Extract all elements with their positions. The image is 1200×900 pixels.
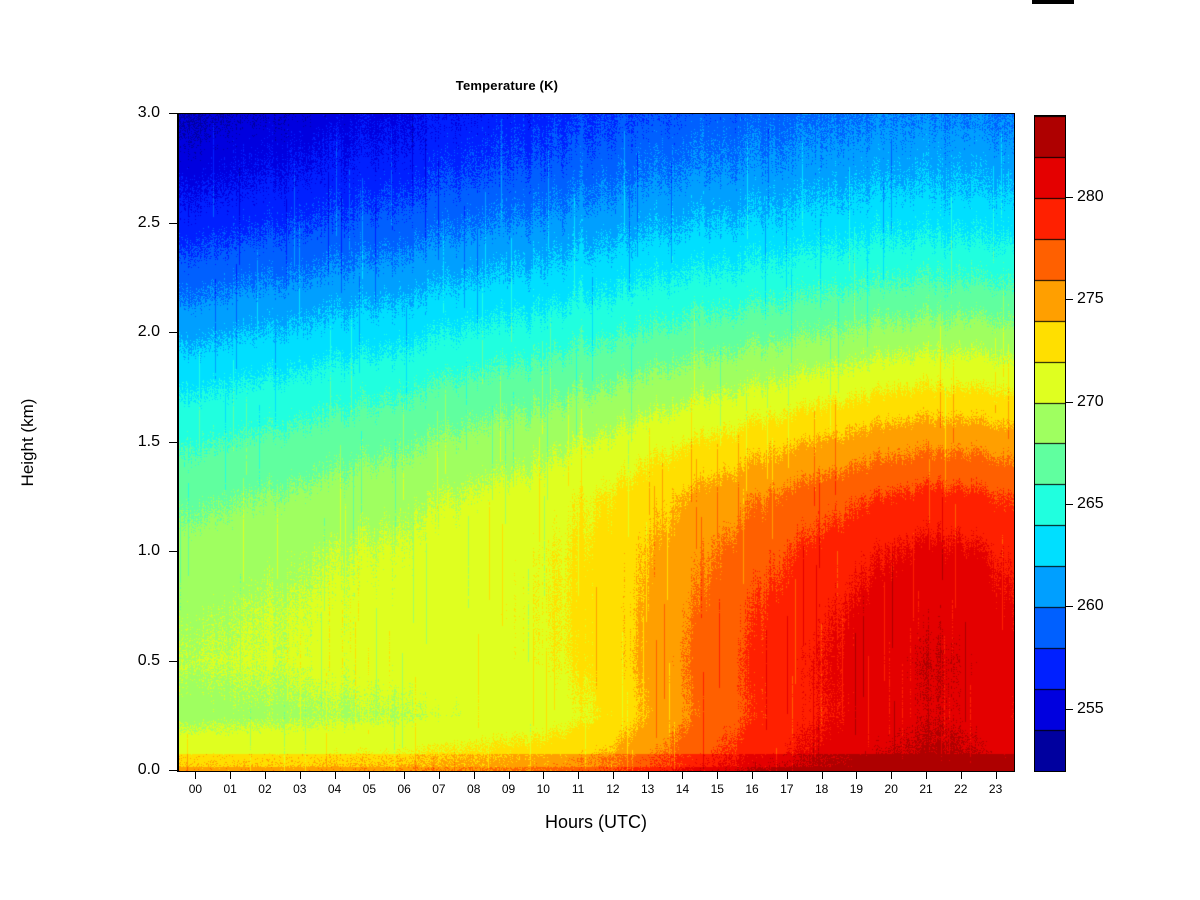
colorbar-tick-mark <box>1065 709 1073 710</box>
y-tick-mark <box>169 113 177 114</box>
y-tick-label: 2.5 <box>100 215 160 231</box>
colorbar-tick-label: 260 <box>1077 598 1104 614</box>
x-tick-mark <box>822 771 823 779</box>
x-tick-mark <box>926 771 927 779</box>
colorbar-tick-label: 275 <box>1077 291 1104 307</box>
colorbar-tick-label: 265 <box>1077 496 1104 512</box>
x-axis-line <box>178 771 1014 772</box>
x-tick-mark <box>682 771 683 779</box>
figure-canvas: Temperature (K) 0.00.51.01.52.02.53.0 He… <box>0 0 1200 900</box>
x-tick-mark <box>752 771 753 779</box>
x-tick-mark <box>648 771 649 779</box>
x-tick-mark <box>717 771 718 779</box>
temperature-field-canvas <box>179 114 1014 771</box>
colorbar-gradient <box>1035 116 1065 771</box>
x-tick-mark <box>300 771 301 779</box>
colorbar <box>1034 115 1066 772</box>
colorbar-tick-mark <box>1065 299 1073 300</box>
x-tick-mark <box>996 771 997 779</box>
x-tick-label: 23 <box>976 782 1016 796</box>
x-tick-mark <box>543 771 544 779</box>
x-tick-mark <box>474 771 475 779</box>
x-tick-mark <box>578 771 579 779</box>
colorbar-tick-label: 280 <box>1077 189 1104 205</box>
x-tick-mark <box>509 771 510 779</box>
y-tick-mark <box>169 223 177 224</box>
colorbar-tick-label: 255 <box>1077 701 1104 717</box>
x-tick-mark <box>230 771 231 779</box>
x-tick-mark <box>439 771 440 779</box>
y-tick-mark <box>169 332 177 333</box>
clipped-legend-stub <box>1032 0 1074 4</box>
heatmap-plot-area <box>178 113 1015 772</box>
y-axis-label: Height (km) <box>18 399 38 487</box>
x-tick-mark <box>195 771 196 779</box>
colorbar-tick-label: 270 <box>1077 394 1104 410</box>
x-tick-mark <box>335 771 336 779</box>
y-axis-line <box>177 113 178 772</box>
y-tick-label: 1.5 <box>100 434 160 450</box>
plot-title: Temperature (K) <box>0 78 1014 93</box>
y-tick-label: 1.0 <box>100 543 160 559</box>
y-tick-label: 2.0 <box>100 324 160 340</box>
y-tick-label: 0.0 <box>100 762 160 778</box>
x-tick-mark <box>613 771 614 779</box>
y-tick-mark <box>169 442 177 443</box>
x-tick-mark <box>369 771 370 779</box>
y-tick-label: 0.5 <box>100 653 160 669</box>
colorbar-tick-mark <box>1065 197 1073 198</box>
y-tick-mark <box>169 551 177 552</box>
x-tick-mark <box>961 771 962 779</box>
y-tick-mark <box>169 661 177 662</box>
x-axis-label: Hours (UTC) <box>178 812 1014 833</box>
y-tick-mark <box>169 770 177 771</box>
y-tick-label: 3.0 <box>100 105 160 121</box>
colorbar-tick-mark <box>1065 606 1073 607</box>
x-tick-mark <box>265 771 266 779</box>
colorbar-tick-mark <box>1065 402 1073 403</box>
x-tick-mark <box>856 771 857 779</box>
y-axis-label-wrap: Height (km) <box>0 113 56 772</box>
x-tick-mark <box>787 771 788 779</box>
x-tick-mark <box>404 771 405 779</box>
x-tick-mark <box>891 771 892 779</box>
colorbar-tick-mark <box>1065 504 1073 505</box>
